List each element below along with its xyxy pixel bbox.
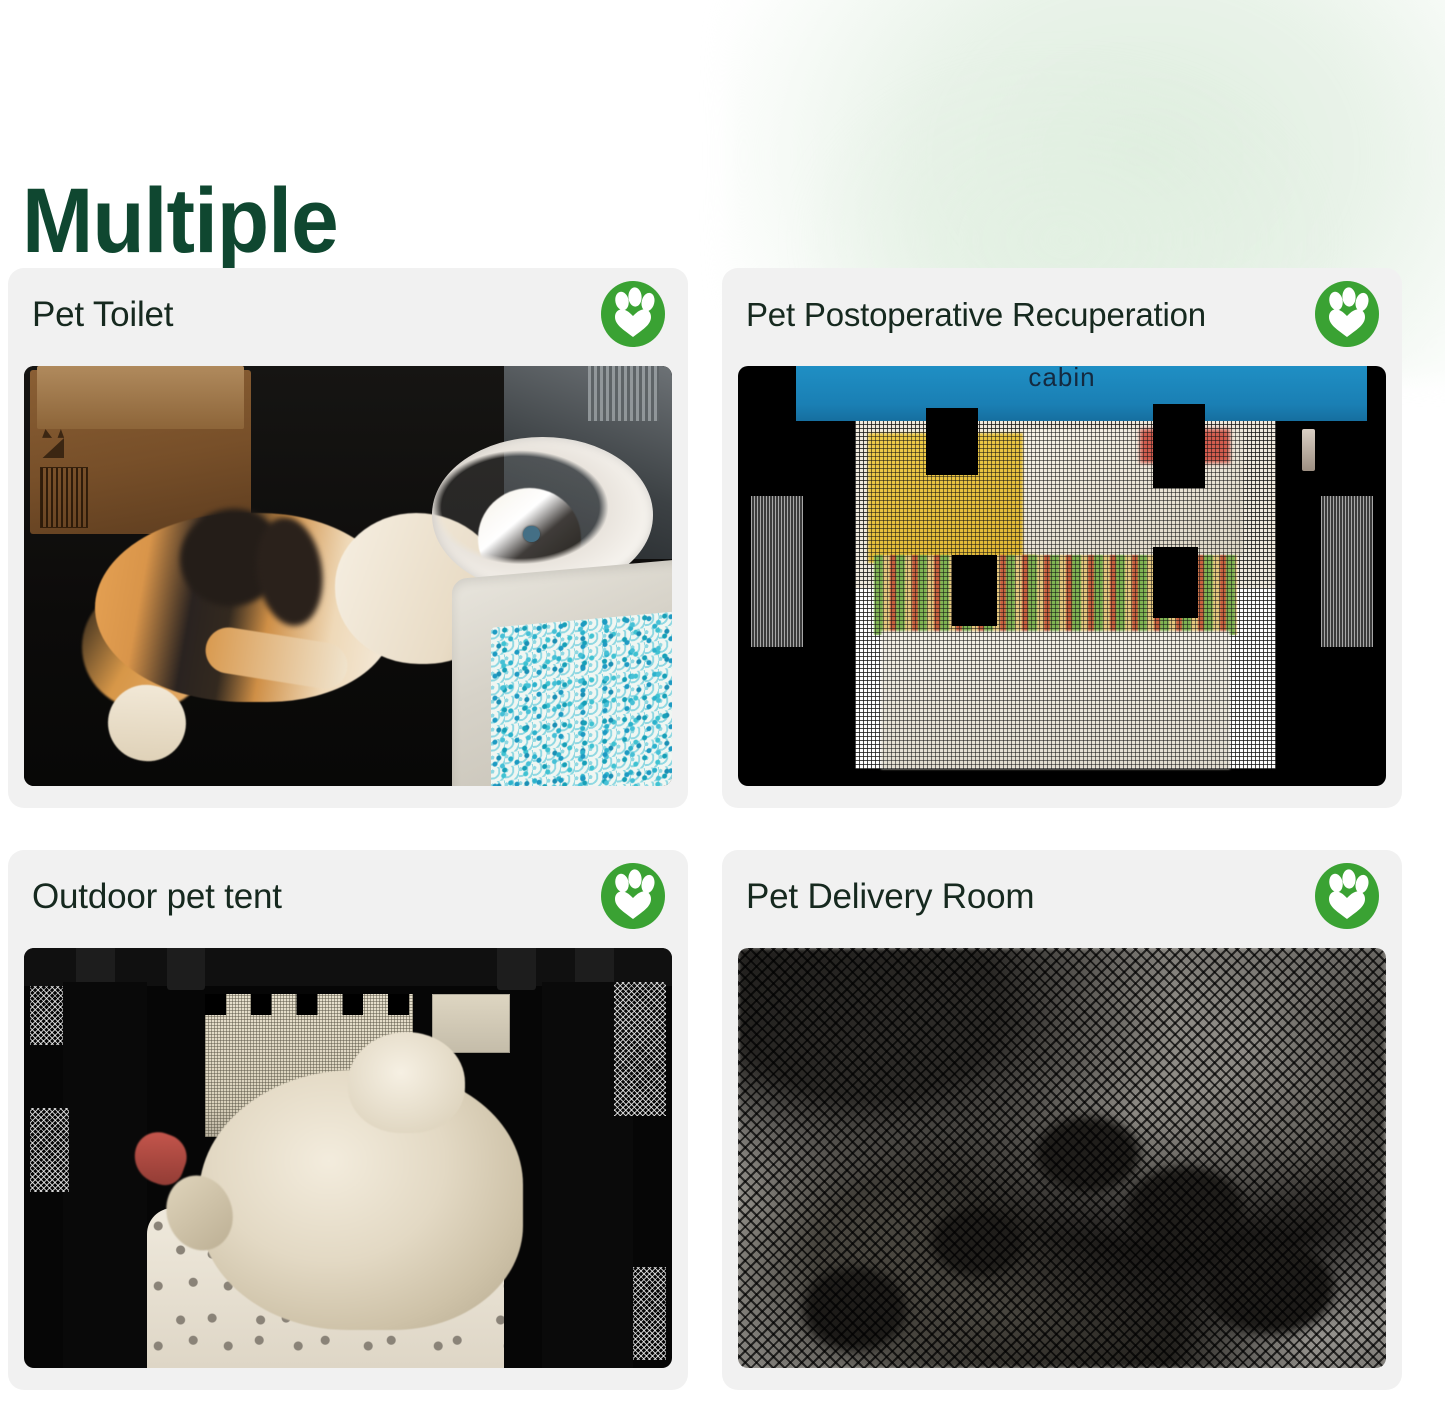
card-title: Outdoor pet tent <box>32 879 600 914</box>
carrier-brand-text: cabin <box>738 366 1386 393</box>
card-title: Pet Delivery Room <box>746 879 1314 914</box>
card-header: Pet Toilet <box>8 268 688 360</box>
paw-badge-icon <box>1314 862 1380 930</box>
use-case-card-grid: Pet Toilet Pet <box>8 268 1429 1390</box>
paw-badge-icon <box>600 862 666 930</box>
card-photo <box>24 948 672 1368</box>
use-case-card-pet-postoperative-recuperation: Pet Postoperative Recuperation cabin <box>722 268 1402 808</box>
card-photo <box>24 366 672 786</box>
card-header: Pet Postoperative Recuperation <box>722 268 1402 360</box>
page-title-line-1: Multiple <box>22 176 520 266</box>
paw-badge-icon <box>1314 280 1380 348</box>
paw-badge-icon <box>600 280 666 348</box>
card-title: Pet Postoperative Recuperation <box>746 298 1314 331</box>
use-case-card-pet-toilet: Pet Toilet <box>8 268 688 808</box>
card-header: Outdoor pet tent <box>8 850 688 942</box>
card-header: Pet Delivery Room <box>722 850 1402 942</box>
card-title: Pet Toilet <box>32 297 600 332</box>
use-case-card-outdoor-pet-tent: Outdoor pet tent <box>8 850 688 1390</box>
use-case-card-pet-delivery-room: Pet Delivery Room <box>722 850 1402 1390</box>
card-photo <box>738 948 1386 1368</box>
card-photo: cabin <box>738 366 1386 786</box>
